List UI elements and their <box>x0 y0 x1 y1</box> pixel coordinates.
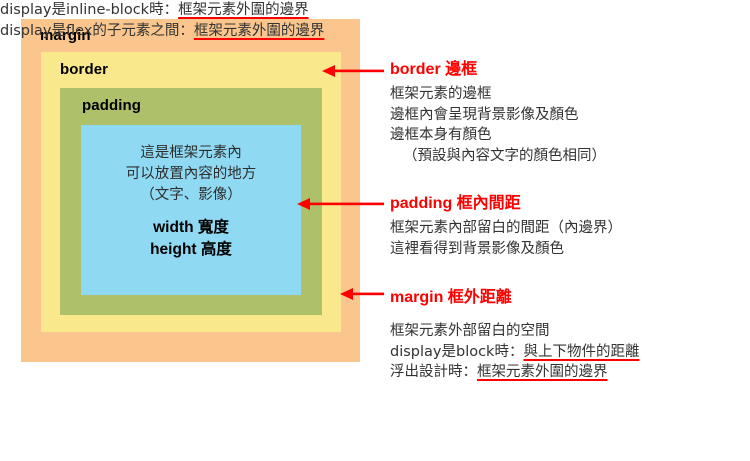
annotation-heading-border: border 邊框 <box>390 55 606 79</box>
annotation-line: display是flex的子元素之間：框架元素外圍的邊界 <box>0 21 750 42</box>
annotation-text: 框架元素外部留白的空間 <box>390 323 550 339</box>
annotation-line: 浮出設計時：框架元素外圍的邊界 <box>390 362 639 383</box>
annotation-line: （預設與內容文字的顏色相同） <box>390 146 606 167</box>
annotation-line: 框架元素內部留白的間距（內邊界） <box>390 218 622 239</box>
annotation-body-padding: 框架元素內部留白的間距（內邊界） 這裡看得到背景影像及顏色 <box>390 218 622 259</box>
annotation-line: display是block時：與上下物件的距離 <box>390 342 639 363</box>
annotation-heading-margin: margin 框外距離 <box>390 283 639 307</box>
annotation-text: display是flex的子元素之間： <box>0 23 194 39</box>
annotation-line: 邊框內會呈現背景影像及顏色 <box>390 105 606 126</box>
annotation-heading-padding: padding 框內間距 <box>390 189 622 213</box>
annotation-line: 框架元素外部留白的空間 <box>390 321 639 342</box>
annotation-line: 邊框本身有顏色 <box>390 125 606 146</box>
annotation-block-padding: padding 框內間距 框架元素內部留白的間距（內邊界） 這裡看得到背景影像及… <box>390 189 622 259</box>
annotation-text-underlined: 與上下物件的距離 <box>523 344 639 360</box>
annotation-block-border: border 邊框 框架元素的邊框 邊框內會呈現背景影像及顏色 邊框本身有顏色 … <box>390 55 606 166</box>
annotation-text: 浮出設計時： <box>390 364 477 380</box>
annotation-block-margin: margin 框外距離 框架元素外部留白的空間 display是block時：與… <box>390 283 639 383</box>
annotation-block-extra: display是inline-block時：框架元素外圍的邊界 display是… <box>0 0 750 42</box>
annotation-line: display是inline-block時：框架元素外圍的邊界 <box>0 0 750 21</box>
annotation-text-underlined: 框架元素外圍的邊界 <box>194 23 325 39</box>
annotation-body-border: 框架元素的邊框 邊框內會呈現背景影像及顏色 邊框本身有顏色 （預設與內容文字的顏… <box>390 84 606 166</box>
annotation-text-underlined: 框架元素外圍的邊界 <box>178 2 309 18</box>
annotation-text-underlined: 框架元素外圍的邊界 <box>477 364 608 380</box>
annotation-text: display是block時： <box>390 344 523 360</box>
annotation-line: 框架元素的邊框 <box>390 84 606 105</box>
annotation-body-margin: 框架元素外部留白的空間 display是block時：與上下物件的距離 浮出設計… <box>390 321 639 383</box>
annotation-column: border 邊框 框架元素的邊框 邊框內會呈現背景影像及顏色 邊框本身有顏色 … <box>0 0 750 461</box>
annotation-text: display是inline-block時： <box>0 2 178 18</box>
annotation-line: 這裡看得到背景影像及顏色 <box>390 239 622 260</box>
